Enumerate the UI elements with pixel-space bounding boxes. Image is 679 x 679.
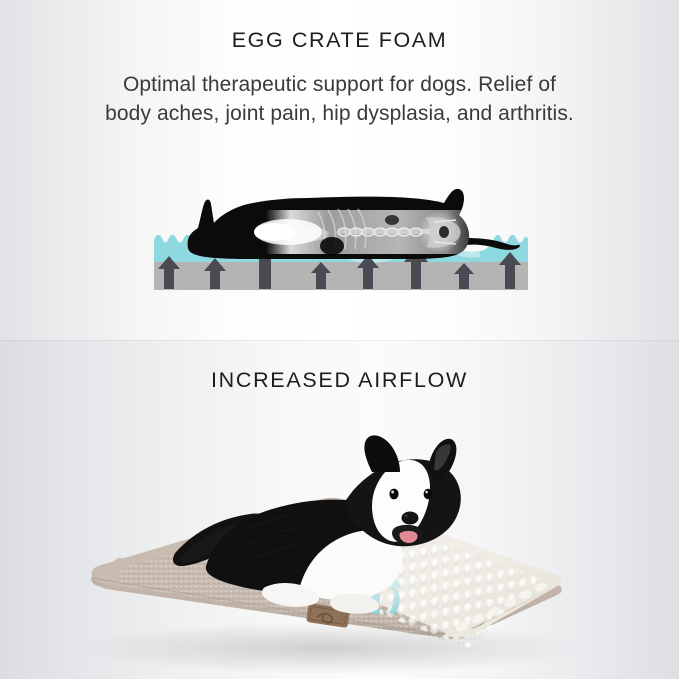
bed-shadow — [80, 622, 580, 674]
dog-eye-right — [424, 489, 433, 499]
foam-cross-section-diagram — [148, 176, 534, 296]
product-photo — [0, 390, 679, 679]
dog-eye-left — [389, 489, 398, 500]
dog-nose — [402, 512, 419, 525]
dog-head — [346, 435, 461, 546]
panel-description: Optimal therapeutic support for dogs. Re… — [0, 70, 679, 128]
description-line-2: body aches, joint pain, hip dysplasia, a… — [0, 99, 679, 128]
dog-ear-left — [364, 435, 400, 472]
description-line-1: Optimal therapeutic support for dogs. Re… — [0, 70, 679, 99]
increased-airflow-panel: INCREASED AIRFLOW — [0, 340, 679, 679]
xray-overlay — [254, 209, 471, 255]
page-title: EGG CRATE FOAM — [0, 28, 679, 53]
egg-crate-foam-panel: EGG CRATE FOAM Optimal therapeutic suppo… — [0, 0, 679, 340]
dog-xray-silhouette — [188, 189, 520, 259]
